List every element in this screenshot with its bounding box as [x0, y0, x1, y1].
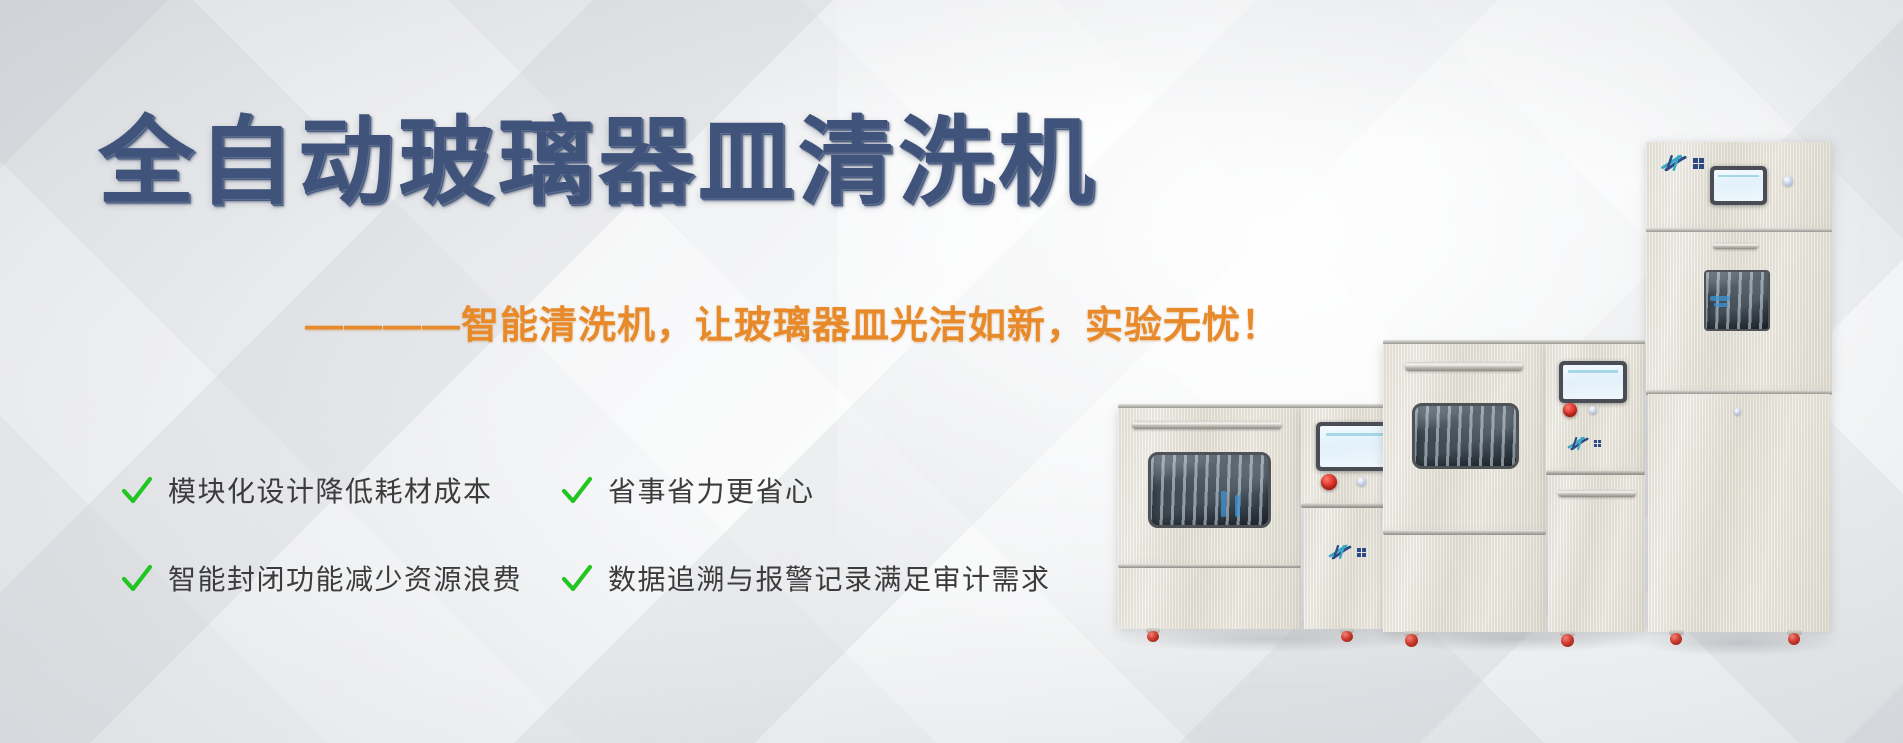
h-mark-icon — [1567, 436, 1591, 451]
drawer-seam — [1118, 564, 1301, 568]
power-button[interactable] — [1589, 406, 1597, 414]
body-seam — [1383, 530, 1546, 535]
emergency-stop-button[interactable] — [1563, 403, 1577, 417]
product-image-freestanding-glassware-washer — [1383, 340, 1645, 640]
service-door-handle — [1558, 490, 1636, 497]
caster-wheel — [1664, 630, 1690, 645]
chamber-viewing-window — [1148, 452, 1271, 528]
lower-panel — [1383, 534, 1546, 632]
brand-logo — [1567, 436, 1601, 451]
caster-wheel — [1782, 630, 1808, 645]
lower-drawer — [1118, 567, 1301, 629]
chamber-viewing-window — [1704, 270, 1770, 331]
product-image-tall-cabinet-glassware-washer — [1646, 142, 1832, 642]
door-handle — [1713, 243, 1758, 249]
hmi-screen[interactable] — [1563, 365, 1623, 399]
door-handle — [1132, 421, 1282, 429]
brand-logo — [1660, 154, 1704, 172]
chamber-viewing-window — [1412, 403, 1519, 469]
power-button[interactable] — [1357, 477, 1366, 486]
caster-wheel — [1399, 631, 1425, 647]
service-door — [1548, 475, 1645, 632]
h-mark-icon — [1660, 154, 1690, 172]
emergency-stop-button[interactable] — [1321, 474, 1337, 490]
caster-wheel — [1555, 631, 1581, 647]
caster-wheel — [1140, 628, 1166, 642]
hmi-touchscreen[interactable] — [1559, 361, 1627, 403]
glassware-load — [1151, 455, 1268, 525]
cabinet-lock-icon — [1734, 408, 1741, 415]
logo-dots-icon — [1357, 548, 1366, 557]
logo-dots-icon — [1693, 158, 1704, 169]
hmi-screen[interactable] — [1320, 426, 1390, 467]
hero-banner: 全自动玻璃器皿清洗机 ————智能清洗机，让玻璃器皿光洁如新，实验无忧！ 模块化… — [0, 0, 1903, 743]
hmi-screen[interactable] — [1714, 170, 1763, 201]
hmi-touchscreen[interactable] — [1710, 166, 1767, 205]
power-button[interactable] — [1783, 176, 1793, 186]
door-handle — [1405, 362, 1523, 371]
product-image-undercounter-glassware-washer — [1118, 404, 1418, 639]
glassware-load — [1415, 406, 1516, 466]
product-image-group — [0, 0, 1903, 743]
lower-cabinet-door — [1648, 394, 1830, 632]
caster-wheel — [1334, 628, 1360, 642]
brand-logo — [1328, 544, 1366, 560]
logo-dots-icon — [1594, 440, 1601, 447]
h-mark-icon — [1328, 544, 1354, 560]
